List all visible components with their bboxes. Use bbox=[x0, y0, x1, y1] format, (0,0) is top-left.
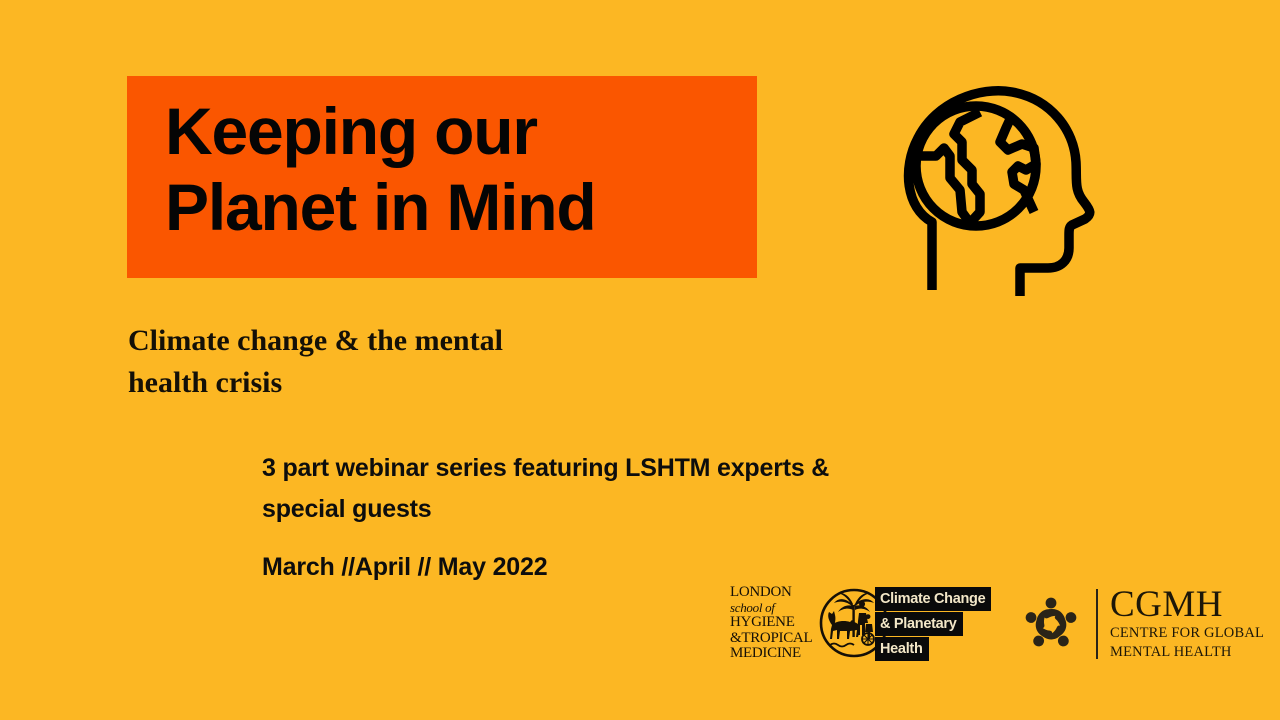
ccph-line-2-row: & Planetary bbox=[875, 612, 1000, 636]
slide-canvas: Keeping our Planet in Mind Climate chang… bbox=[0, 0, 1280, 720]
cgmh-tagline-line-2: MENTAL HEALTH bbox=[1110, 643, 1234, 662]
cgmh-divider bbox=[1096, 589, 1098, 659]
page-title: Keeping our Planet in Mind bbox=[165, 93, 765, 245]
lshtm-line-2: SCHOOL of bbox=[730, 600, 814, 615]
ccph-line-1-row: Climate Change bbox=[875, 587, 1000, 611]
subtitle: Climate change & the mental health crisi… bbox=[128, 320, 688, 404]
head-with-globe-icon bbox=[888, 72, 1103, 304]
cgmh-people-circle-icon bbox=[1018, 591, 1084, 657]
lshtm-line-1: LONDON bbox=[730, 585, 814, 600]
cgmh-logo: CGMH CENTRE FOR GLOBAL MENTAL HEALTH bbox=[1018, 583, 1230, 667]
cgmh-tagline-line-1: CENTRE FOR GLOBAL bbox=[1110, 624, 1234, 643]
ccph-line-1: Climate Change bbox=[875, 587, 991, 611]
climate-change-planetary-health-logo: Climate Change & Planetary Health bbox=[875, 587, 1000, 661]
ccph-line-3-row: Health bbox=[875, 637, 1000, 661]
cgmh-wordmark: CGMH CENTRE FOR GLOBAL MENTAL HEALTH bbox=[1110, 586, 1234, 662]
ccph-line-2: & Planetary bbox=[875, 612, 963, 636]
cgmh-acronym: CGMH bbox=[1110, 586, 1234, 624]
lshtm-line-3: HYGIENE bbox=[730, 615, 814, 630]
lshtm-logo: LONDON SCHOOL of HYGIENE &TROPICAL MEDIC… bbox=[730, 585, 880, 663]
logo-strip: LONDON SCHOOL of HYGIENE &TROPICAL MEDIC… bbox=[730, 583, 1230, 667]
lshtm-line-5: MEDICINE bbox=[730, 646, 814, 661]
ccph-line-3: Health bbox=[875, 637, 929, 661]
lshtm-line-4: &TROPICAL bbox=[730, 631, 814, 646]
lshtm-wordmark: LONDON SCHOOL of HYGIENE &TROPICAL MEDIC… bbox=[730, 585, 814, 661]
series-dates: March //April // May 2022 bbox=[262, 553, 547, 582]
series-description: 3 part webinar series featuring LSHTM ex… bbox=[262, 448, 942, 530]
